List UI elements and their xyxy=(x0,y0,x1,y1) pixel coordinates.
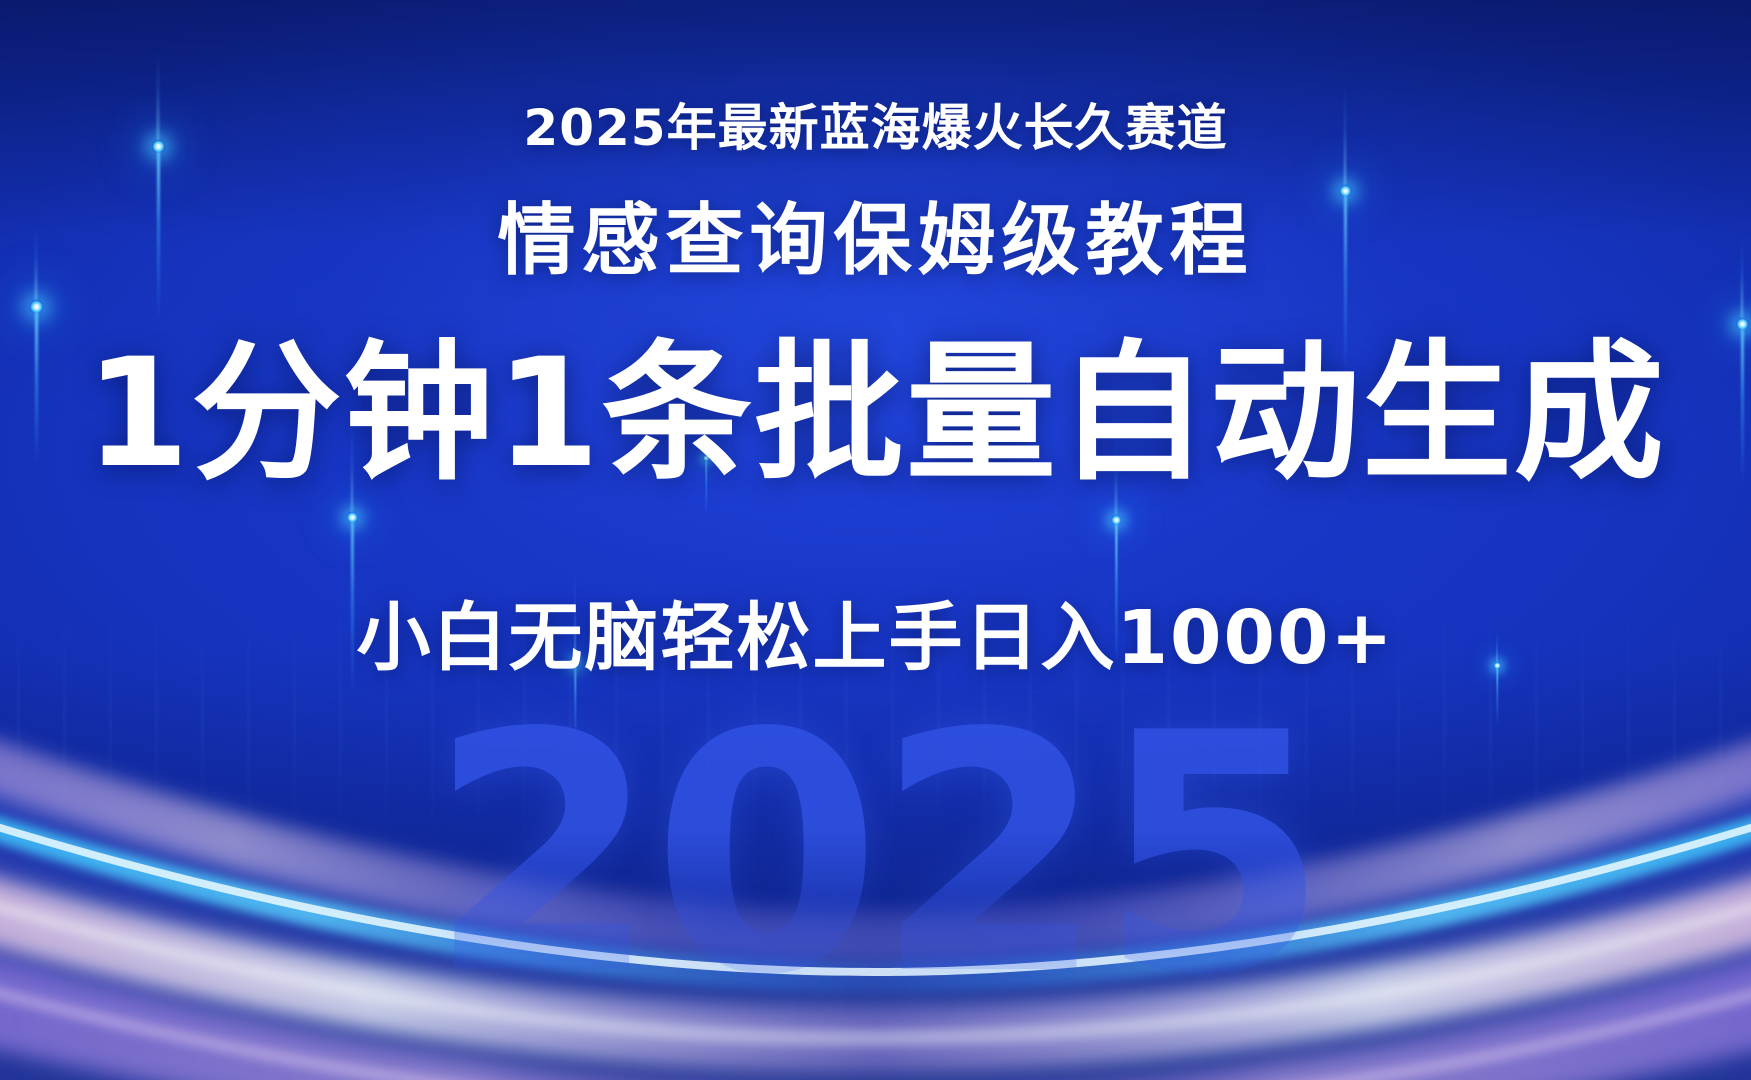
tagline-text: 小白无脑轻松上手日入1000+ xyxy=(0,578,1751,685)
eyebrow-text: 2025年最新蓝海爆火长久赛道 xyxy=(0,88,1751,160)
poster-copy: 2025年最新蓝海爆火长久赛道 情感查询保姆级教程 1分钟1条批量自动生成 小白… xyxy=(0,0,1751,1080)
promo-poster: 2025 2025年最新蓝海爆火长久赛道 情感查询保姆级教程 1分钟1条批量自动… xyxy=(0,0,1751,1080)
headline-text: 1分钟1条批量自动生成 xyxy=(0,330,1751,498)
subtitle-text: 情感查询保姆级教程 xyxy=(0,178,1751,290)
